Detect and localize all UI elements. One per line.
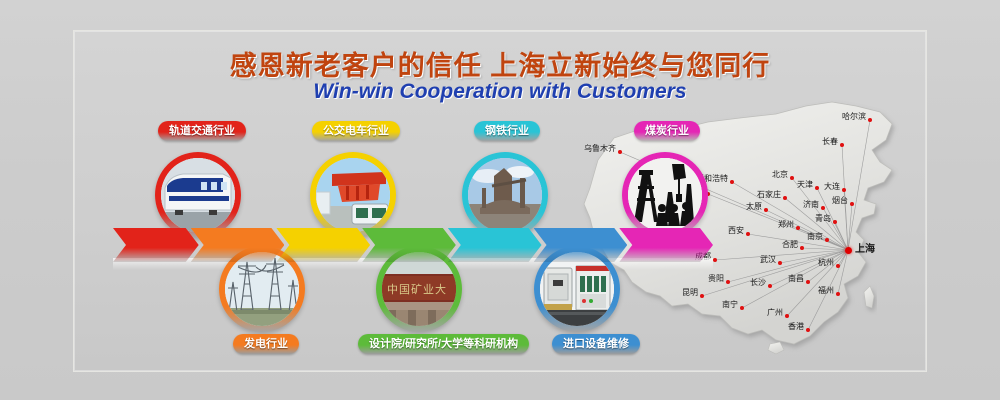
industry-photo-wrap <box>468 158 542 232</box>
city-dot-11 <box>764 208 768 212</box>
ribbon-chevron-6 <box>534 228 628 262</box>
city-dot-25 <box>740 306 744 310</box>
city-dot-22 <box>806 280 810 284</box>
city-label-天津: 天津 <box>797 179 813 190</box>
city-label-香港: 香港 <box>788 321 804 332</box>
city-label-烟台: 烟台 <box>832 195 848 206</box>
city-dot-15 <box>825 238 829 242</box>
industry-badge-bottom-0[interactable]: 发电行业 <box>233 334 299 354</box>
city-label-合肥: 合肥 <box>782 239 798 250</box>
city-dot-6 <box>842 188 846 192</box>
city-dot-3 <box>730 180 734 184</box>
city-dot-10 <box>850 202 854 206</box>
city-dot-23 <box>836 292 840 296</box>
industry-photo-wrap <box>161 158 235 232</box>
city-dot-0 <box>868 118 872 122</box>
coal-mine-derrick-silhouette <box>628 158 702 232</box>
city-dot-20 <box>726 280 730 284</box>
svg-text:大: 大 <box>435 282 446 296</box>
city-dot-4 <box>790 176 794 180</box>
industry-photo-wrap: 中国矿业大 <box>382 252 456 326</box>
high-speed-train-photo <box>161 158 235 232</box>
city-label-乌鲁木齐: 乌鲁木齐 <box>584 143 616 154</box>
city-dot-24 <box>700 294 704 298</box>
city-dot-21 <box>768 284 772 288</box>
city-label-石家庄: 石家庄 <box>757 189 781 200</box>
city-bus-pavilion-photo <box>316 158 390 232</box>
city-dot-27 <box>806 328 810 332</box>
industry-badge-top-1[interactable]: 公交电车行业 <box>312 121 400 141</box>
city-dot-16 <box>800 246 804 250</box>
industry-badge-top-3[interactable]: 煤炭行业 <box>634 121 700 141</box>
city-dot-12 <box>833 220 837 224</box>
switchgear-cabinet-photo <box>540 252 614 326</box>
city-label-贵阳: 贵阳 <box>708 273 724 284</box>
city-dot-17 <box>713 258 717 262</box>
city-label-南京: 南京 <box>807 231 823 242</box>
industry-badge-bottom-2[interactable]: 进口设备维修 <box>552 334 640 354</box>
industry-circle-top-1[interactable] <box>310 152 396 238</box>
city-label-南宁: 南宁 <box>722 299 738 310</box>
city-dot-14 <box>796 226 800 230</box>
steel-blast-furnace-photo <box>468 158 542 232</box>
city-dot-5 <box>815 186 819 190</box>
industry-photo-wrap <box>628 158 702 232</box>
city-dot-2 <box>618 150 622 154</box>
ribbon-chevron-4 <box>362 228 456 262</box>
page-title: 感恩新老客户的信任 上海立新始终与您同行 <box>0 44 1000 83</box>
city-label-青岛: 青岛 <box>815 213 831 224</box>
city-label-杭州: 杭州 <box>818 257 834 268</box>
ribbon-chevron-2 <box>191 228 285 262</box>
city-dot-8 <box>783 196 787 200</box>
city-label-太原: 太原 <box>746 201 762 212</box>
power-transmission-towers-photo <box>225 252 299 326</box>
industry-badge-top-0[interactable]: 轨道交通行业 <box>158 121 246 141</box>
ribbon-chevron-7 <box>619 228 713 262</box>
city-dot-13 <box>746 232 750 236</box>
university-signboard-photo: 中国矿业大 <box>382 252 456 326</box>
city-dot-19 <box>836 264 840 268</box>
svg-text:矿: 矿 <box>411 283 422 296</box>
city-label-北京: 北京 <box>772 169 788 180</box>
banner-canvas: 哈尔滨长春乌鲁木齐呼和浩特北京天津大连银川石家庄济南烟台太原青岛西安郑州南京合肥… <box>0 0 1000 400</box>
svg-text:国: 国 <box>399 283 410 296</box>
city-dot-26 <box>785 314 789 318</box>
city-label-长春: 长春 <box>822 136 838 147</box>
svg-text:中: 中 <box>387 283 398 296</box>
industry-ribbon <box>113 228 713 262</box>
city-label-哈尔滨: 哈尔滨 <box>842 111 866 122</box>
industry-circle-top-0[interactable] <box>155 152 241 238</box>
city-label-大连: 大连 <box>824 181 840 192</box>
industry-badge-top-2[interactable]: 钢铁行业 <box>474 121 540 141</box>
city-label-南昌: 南昌 <box>788 273 804 284</box>
city-label-昆明: 昆明 <box>682 287 698 298</box>
city-label-广州: 广州 <box>767 307 783 318</box>
page-subtitle: Win-win Cooperation with Customers <box>0 80 1000 104</box>
industry-badge-bottom-1[interactable]: 设计院/研究所/大学等科研机构 <box>358 334 529 354</box>
city-label-郑州: 郑州 <box>778 219 794 230</box>
city-label-长沙: 长沙 <box>750 277 766 288</box>
city-dot-hub <box>845 247 852 254</box>
city-dot-9 <box>821 206 825 210</box>
industry-photo-wrap <box>225 252 299 326</box>
city-dot-1 <box>840 143 844 147</box>
city-label-济南: 济南 <box>803 199 819 210</box>
city-label-武汉: 武汉 <box>760 254 776 265</box>
city-label-hub: 上海 <box>855 240 875 255</box>
industry-photo-wrap <box>540 252 614 326</box>
ribbon-chevron-5 <box>448 228 542 262</box>
ribbon-chevron-3 <box>276 228 370 262</box>
industry-circle-top-2[interactable] <box>462 152 548 238</box>
svg-text:业: 业 <box>423 283 434 296</box>
industry-circle-top-3[interactable] <box>622 152 708 238</box>
industry-photo-wrap <box>316 158 390 232</box>
city-label-福州: 福州 <box>818 285 834 296</box>
ribbon-chevron-1 <box>113 228 199 262</box>
city-dot-18 <box>778 261 782 265</box>
city-label-西安: 西安 <box>728 225 744 236</box>
